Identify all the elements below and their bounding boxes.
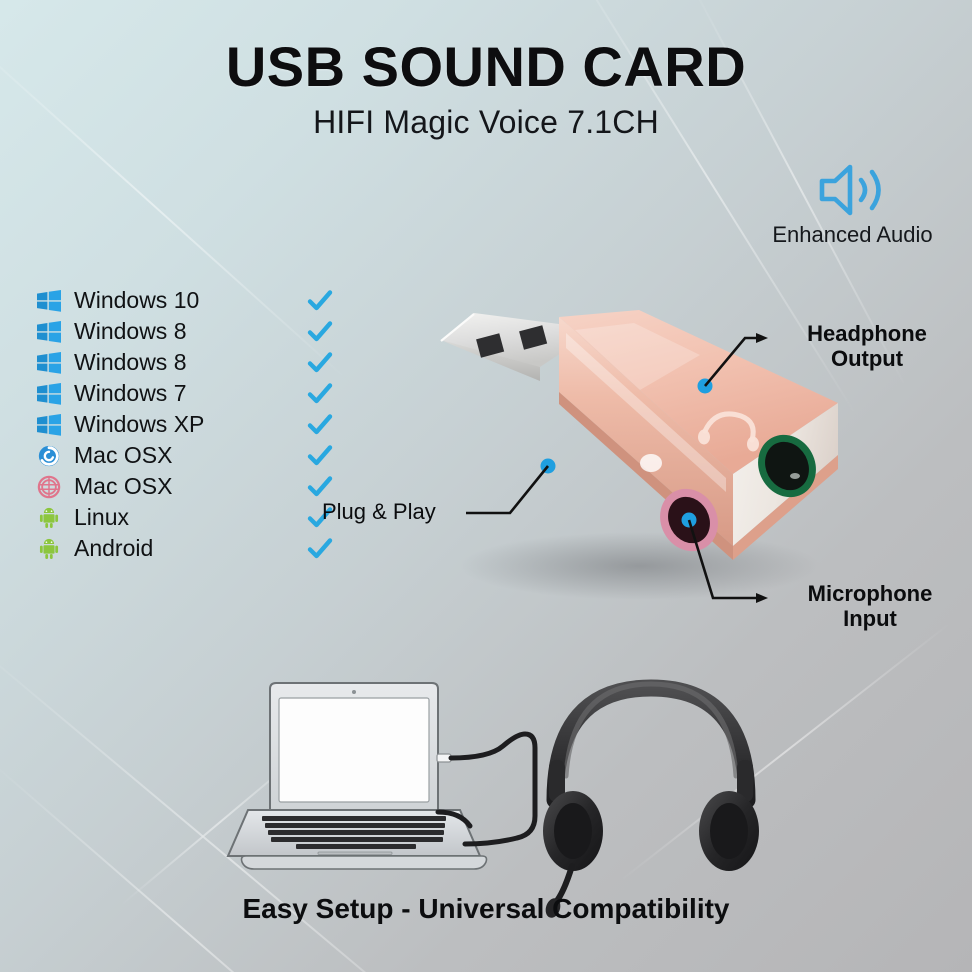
compatibility-label: Windows 8 (74, 349, 186, 376)
checkmark-icon (306, 319, 334, 345)
android-robot-icon (34, 536, 64, 562)
checkmark-icon (306, 536, 334, 562)
compatibility-label: Windows XP (74, 411, 204, 438)
checkmark-icon (306, 412, 334, 438)
callout-microphone-input: Microphone Input (772, 582, 968, 631)
compatibility-row: Windows 7 (34, 378, 319, 409)
checkmark-icon (306, 474, 334, 500)
compatibility-list: Windows 10Windows 8Windows 8Windows 7Win… (34, 285, 319, 564)
headphone-jack (747, 425, 826, 508)
connection-cable (451, 734, 535, 844)
compatibility-label: Windows 7 (74, 380, 186, 407)
windows-logo-icon (34, 319, 64, 345)
marker-plug-play (541, 459, 556, 474)
compatibility-label: Windows 10 (74, 287, 199, 314)
compatibility-row: Windows 10 (34, 285, 319, 316)
windows-logo-icon (34, 381, 64, 407)
headset-illustration (543, 684, 759, 920)
page-title: USB SOUND CARD (0, 34, 972, 99)
callout-headphone-output-line2: Output (772, 347, 962, 372)
laptop-usb-port (437, 754, 451, 762)
compatibility-row: Windows XP (34, 409, 319, 440)
callout-microphone-input-line1: Microphone (772, 582, 968, 607)
checkmark-icon (306, 443, 334, 469)
mac-globe-icon (34, 474, 64, 500)
callout-headphone-output: Headphone Output (772, 322, 962, 371)
speaker-wave-icon (745, 160, 960, 220)
mac-swirl-icon (34, 443, 64, 469)
enhanced-audio-badge: Enhanced Audio (745, 160, 960, 248)
enhanced-audio-label: Enhanced Audio (745, 222, 960, 248)
callout-microphone-input-line2: Input (772, 607, 968, 632)
page-subtitle: HIFI Magic Voice 7.1CH (0, 104, 972, 141)
compatibility-label: Mac OSX (74, 442, 172, 469)
marker-headphone (698, 379, 713, 394)
windows-logo-icon (34, 288, 64, 314)
callout-plug-and-play: Plug & Play (322, 500, 502, 525)
compatibility-label: Mac OSX (74, 473, 172, 500)
footer-tagline: Easy Setup - Universal Compatibility (0, 893, 972, 925)
compatibility-row: Mac OSX (34, 471, 319, 502)
callout-headphone-output-line1: Headphone (772, 322, 962, 347)
compatibility-row: Windows 8 (34, 347, 319, 378)
android-robot-icon (34, 505, 64, 531)
compatibility-label: Linux (74, 504, 129, 531)
checkmark-icon (306, 381, 334, 407)
windows-logo-icon (34, 412, 64, 438)
compatibility-row: Windows 8 (34, 316, 319, 347)
windows-logo-icon (34, 350, 64, 376)
compatibility-row: Linux (34, 502, 319, 533)
checkmark-icon (306, 288, 334, 314)
microphone-jack (649, 479, 728, 562)
checkmark-icon (306, 350, 334, 376)
compatibility-row: Mac OSX (34, 440, 319, 471)
compatibility-row: Android (34, 533, 319, 564)
marker-microphone (682, 513, 697, 528)
compatibility-label: Android (74, 535, 153, 562)
laptop-illustration (228, 683, 487, 869)
product-infographic: USB SOUND CARD HIFI Magic Voice 7.1CH En… (0, 0, 972, 972)
compatibility-label: Windows 8 (74, 318, 186, 345)
